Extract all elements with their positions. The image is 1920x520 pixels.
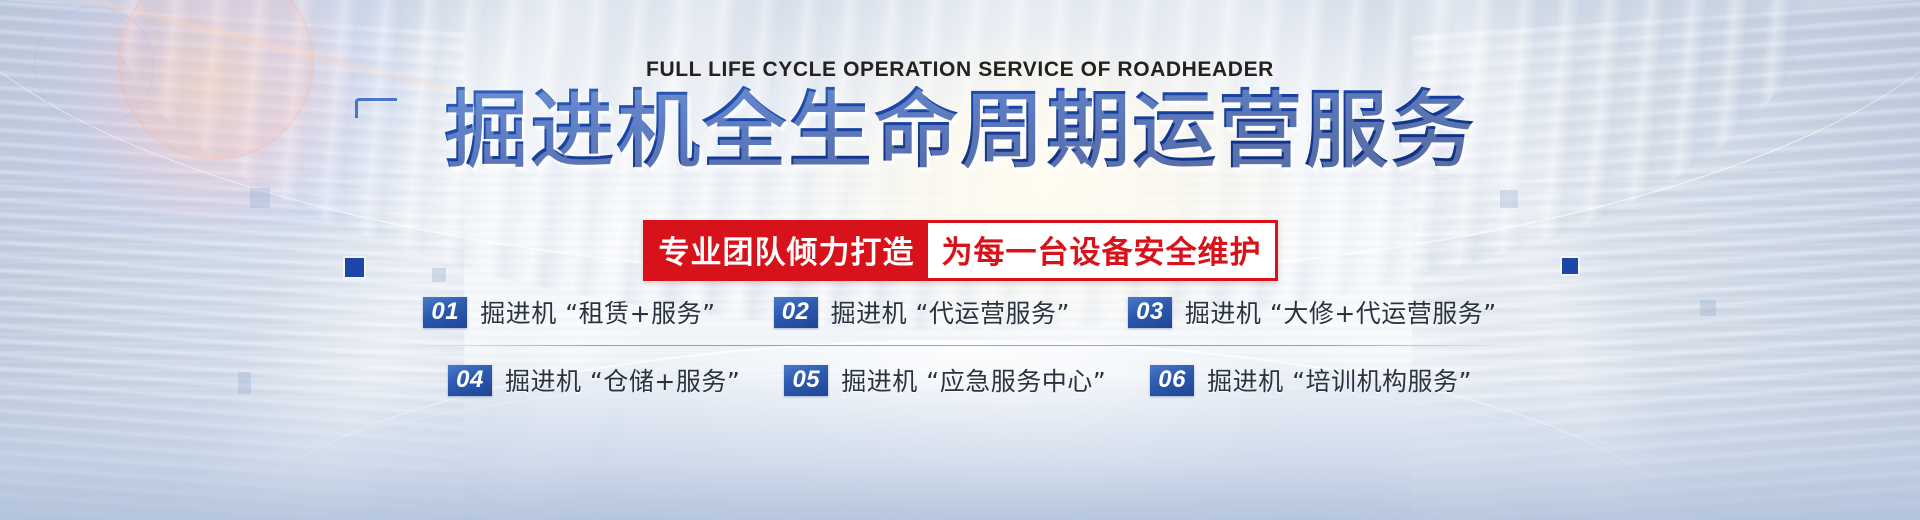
- service-number-badge: 02: [774, 297, 818, 328]
- ribbon-left-text: 专业团队倾力打造: [646, 223, 928, 278]
- service-row-2: 04掘进机 “仓储+服务”05掘进机 “应急服务中心”06掘进机 “培训机构服务…: [0, 354, 1920, 406]
- service-item-label: 掘进机 “租赁+服务”: [480, 294, 715, 330]
- service-list: 01掘进机 “租赁+服务”02掘进机 “代运营服务”03掘进机 “大修+代运营服…: [0, 286, 1920, 406]
- service-item[interactable]: 01掘进机 “租赁+服务”: [423, 294, 715, 330]
- service-number-badge: 01: [423, 297, 467, 328]
- service-item[interactable]: 05掘进机 “应急服务中心”: [784, 362, 1106, 398]
- service-item[interactable]: 04掘进机 “仓储+服务”: [448, 362, 740, 398]
- service-item-label: 掘进机 “代运营服务”: [831, 294, 1070, 330]
- service-item[interactable]: 06掘进机 “培训机构服务”: [1150, 362, 1472, 398]
- service-number-badge: 03: [1128, 297, 1172, 328]
- service-number-badge: 05: [784, 365, 828, 396]
- banner-eyebrow-text: FULL LIFE CYCLE OPERATION SERVICE OF ROA…: [0, 58, 1920, 82]
- service-item[interactable]: 02掘进机 “代运营服务”: [774, 294, 1070, 330]
- service-number-badge: 04: [448, 365, 492, 396]
- service-item-label: 掘进机 “仓储+服务”: [505, 362, 740, 398]
- service-item-label: 掘进机 “大修+代运营服务”: [1185, 294, 1497, 330]
- service-row-divider: [415, 345, 1505, 346]
- headline-container: 掘进机全生命周期运营服务: [0, 86, 1920, 174]
- service-number-badge: 06: [1150, 365, 1194, 396]
- ribbon-right-text: 为每一台设备安全维护: [928, 223, 1275, 278]
- red-ribbon: 专业团队倾力打造 为每一台设备安全维护: [643, 220, 1278, 281]
- service-item-label: 掘进机 “培训机构服务”: [1207, 362, 1472, 398]
- service-row-1: 01掘进机 “租赁+服务”02掘进机 “代运营服务”03掘进机 “大修+代运营服…: [0, 286, 1920, 338]
- banner-headline: 掘进机全生命周期运营服务: [444, 86, 1476, 174]
- service-item[interactable]: 03掘进机 “大修+代运营服务”: [1128, 294, 1497, 330]
- promo-banner: FULL LIFE CYCLE OPERATION SERVICE OF ROA…: [0, 0, 1920, 520]
- service-item-label: 掘进机 “应急服务中心”: [841, 362, 1106, 398]
- ribbon-container: 专业团队倾力打造 为每一台设备安全维护: [0, 220, 1920, 281]
